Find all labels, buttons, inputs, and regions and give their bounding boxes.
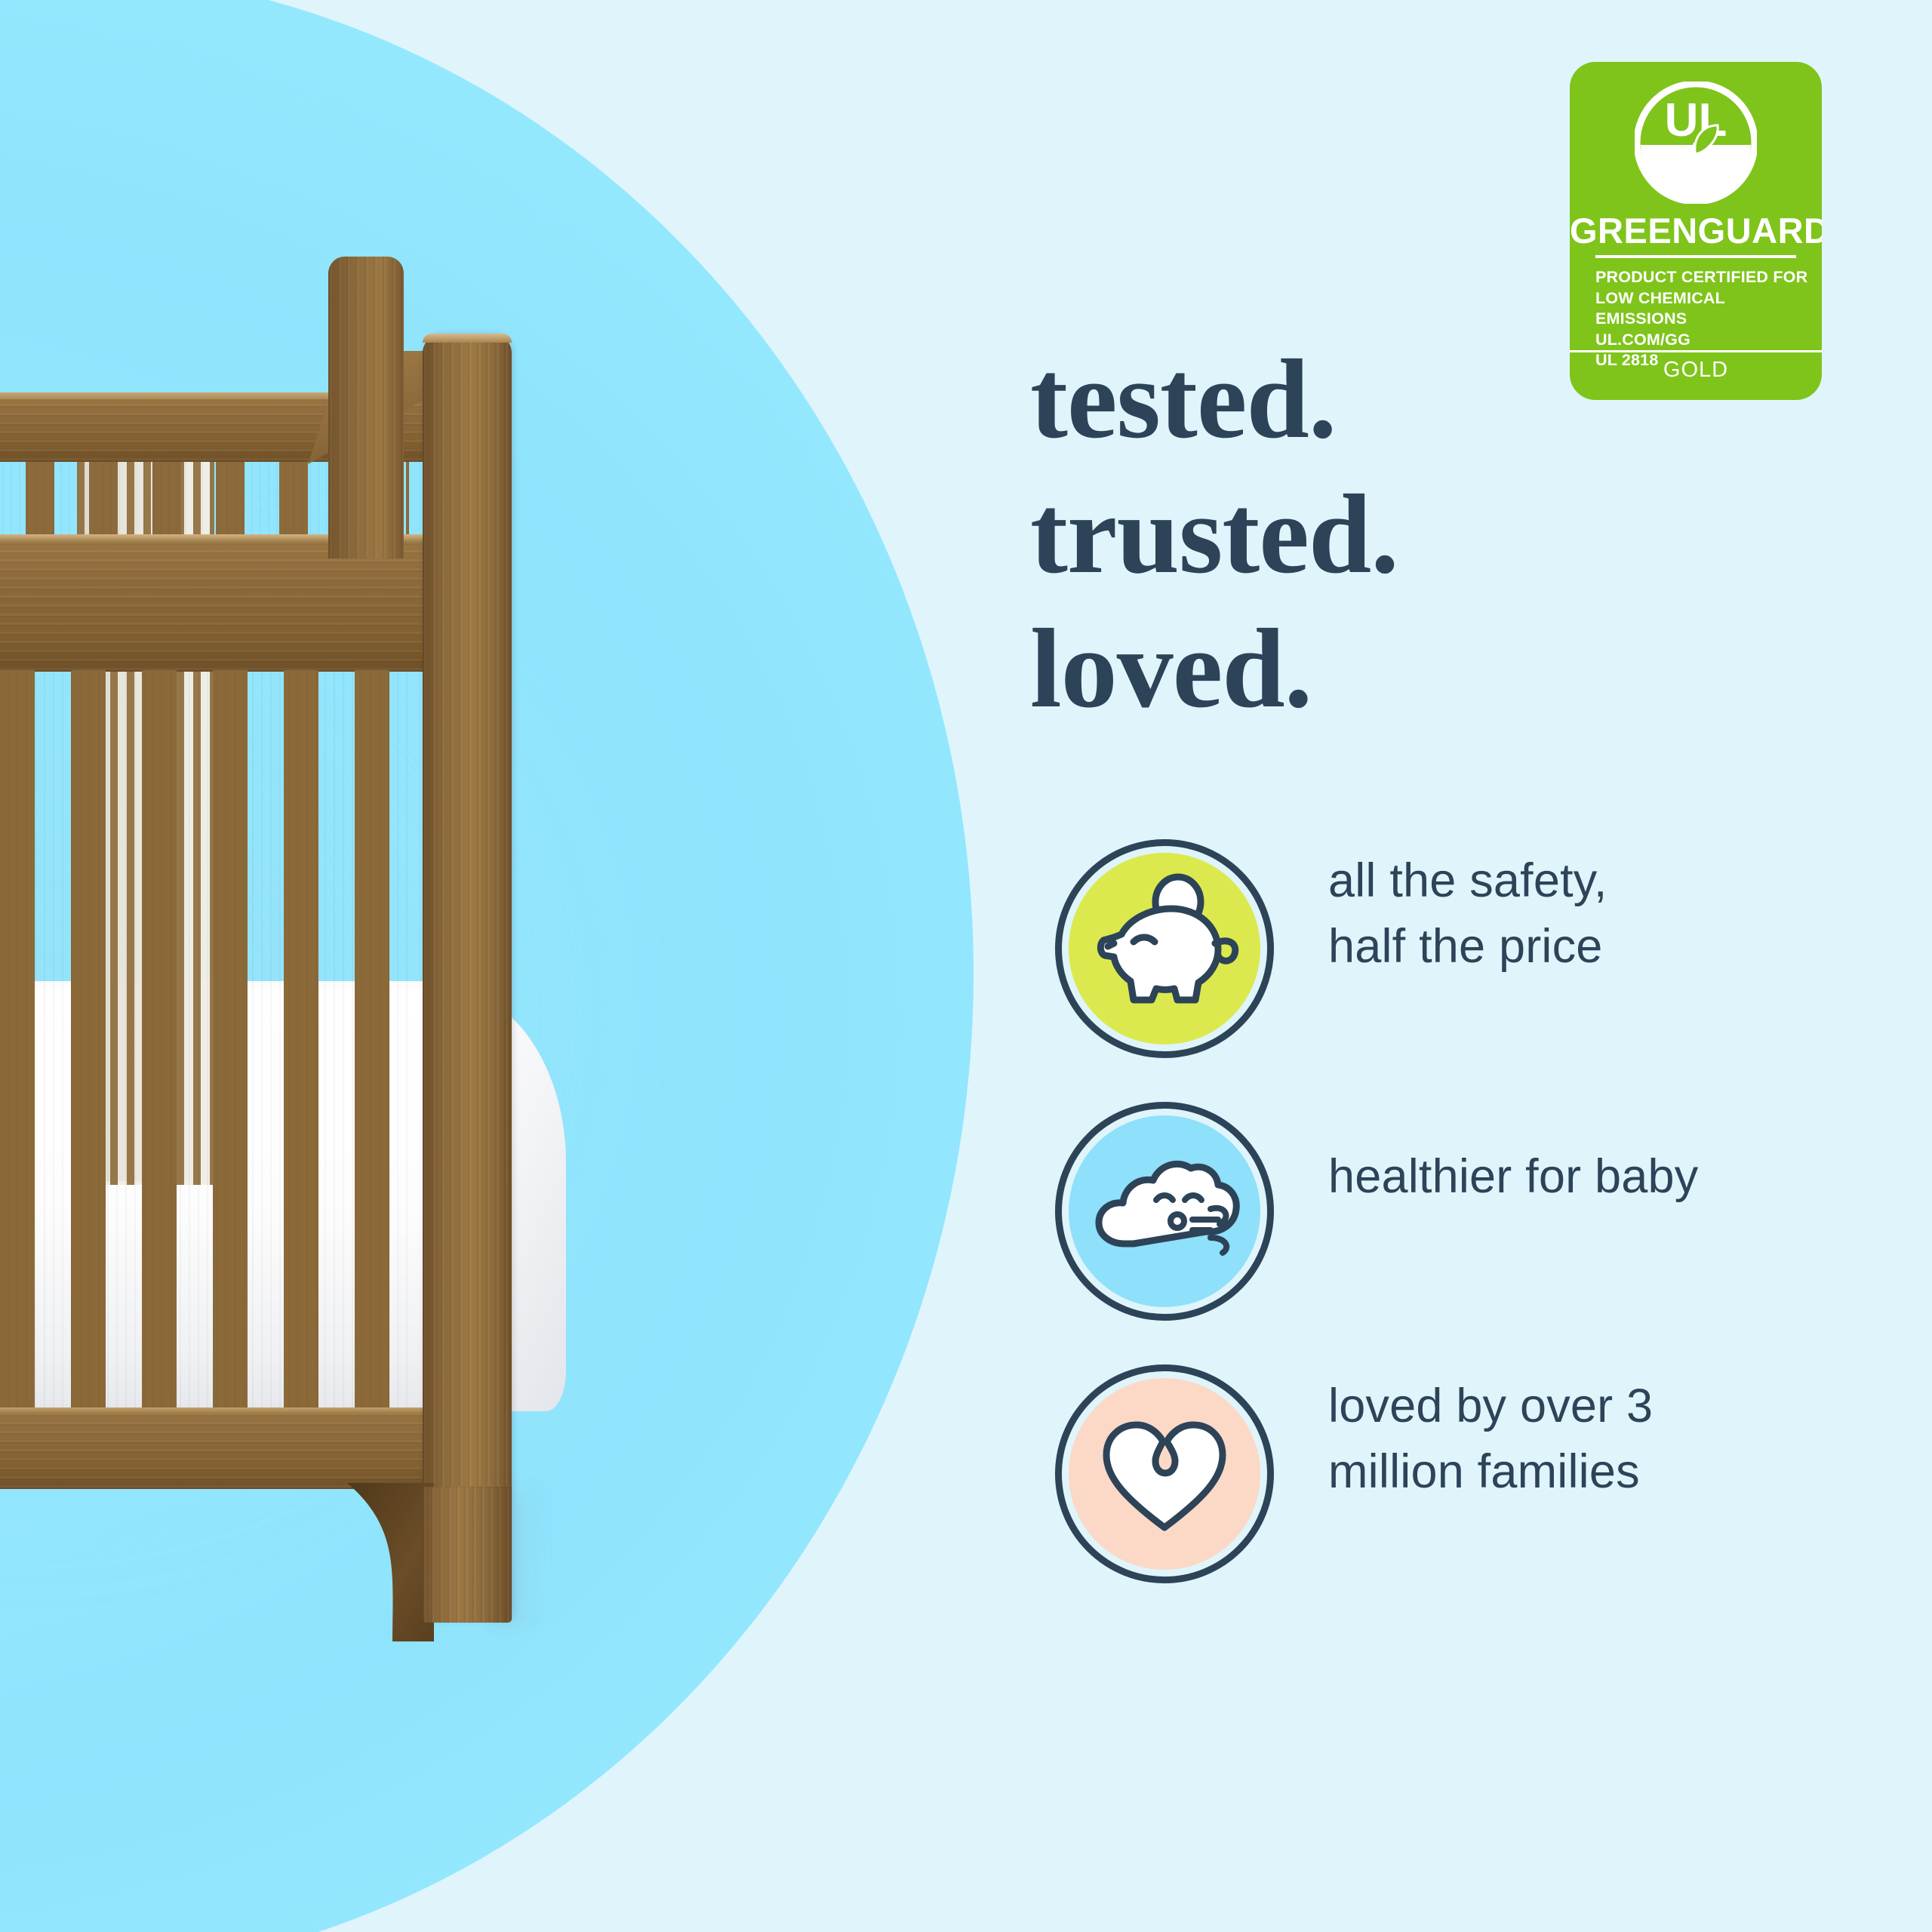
badge-line-2: LOW CHEMICAL EMISSIONS (1595, 288, 1808, 330)
feature-item-price: all the safety, half the price (1026, 823, 1917, 1085)
badge-line-1: PRODUCT CERTIFIED FOR (1595, 267, 1808, 288)
crib-leg (423, 1487, 512, 1623)
feature-list: all the safety, half the price (1026, 823, 1917, 1611)
feature-item-health: healthier for baby (1026, 1085, 1917, 1348)
feature-label-line-2: half the price (1328, 914, 1887, 980)
badge-divider (1595, 255, 1796, 258)
headline-line-1: tested. (1030, 332, 1785, 467)
feature-label-line-2: million families (1328, 1439, 1887, 1505)
piggy-bank-glyph (1078, 862, 1251, 1035)
marketing-banner: UL GREENGUARD PRODUCT CERTIFIED FOR LOW … (0, 0, 1932, 1932)
crib-mid-rail (0, 534, 475, 672)
crib-mid-rail-edge (0, 534, 475, 541)
blowing-cloud-glyph (1078, 1124, 1251, 1298)
ul-leaf-icon: UL (1635, 82, 1757, 204)
heart-icon (1055, 1364, 1274, 1583)
feature-label: healthier for baby (1328, 1144, 1887, 1210)
crib-vertical-slats-texture (0, 670, 411, 1425)
badge-title: GREENGUARD (1570, 210, 1822, 251)
crib-product-image (0, 392, 928, 1690)
crib-foot-bracket (347, 1483, 434, 1641)
feature-label-line-1: all the safety, (1328, 848, 1887, 914)
headline-line-2: trusted. (1030, 467, 1785, 602)
piggy-bank-icon (1055, 839, 1274, 1058)
crib-corner-post-highlight (423, 334, 512, 343)
crib-back-post (328, 257, 404, 558)
headline-line-3: loved. (1030, 601, 1785, 737)
crib-corner-post (423, 334, 512, 1620)
feature-label: all the safety, half the price (1328, 848, 1887, 980)
blowing-cloud-icon (1055, 1102, 1274, 1321)
feature-label-line-1: loved by over 3 (1328, 1374, 1887, 1439)
heart-glyph (1078, 1387, 1251, 1561)
content-column: UL GREENGUARD PRODUCT CERTIFIED FOR LOW … (1011, 0, 1932, 1932)
feature-label-line-1: healthier for baby (1328, 1144, 1887, 1210)
feature-label: loved by over 3 million families (1328, 1374, 1887, 1505)
feature-item-loved: loved by over 3 million families (1026, 1348, 1917, 1611)
page-title: tested. trusted. loved. (1030, 332, 1785, 737)
